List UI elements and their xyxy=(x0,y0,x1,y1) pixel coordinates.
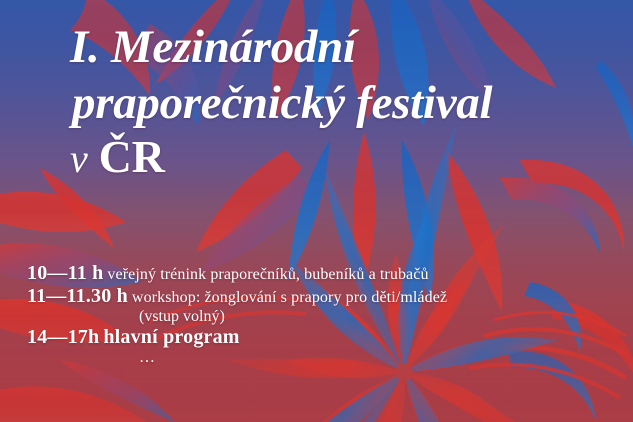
schedule-item-2: 11—11.30 h workshop: žonglování s prapor… xyxy=(27,285,627,308)
schedule-item-3-time: 14—17h xyxy=(27,326,99,348)
schedule-item-2-time: 11—11.30 h xyxy=(27,285,128,307)
poster-content: I. Mezinárodní praporečnický festival v … xyxy=(0,0,633,422)
schedule-item-2-note-text: (vstup volný) xyxy=(139,308,225,325)
schedule-item-2-description: workshop: žonglování s prapory pro děti/… xyxy=(132,289,447,306)
schedule-cropped-line: … xyxy=(27,349,627,367)
title-line-3: v ČR xyxy=(70,134,630,179)
schedule-item-3: 14—17h hlavní program xyxy=(27,326,627,349)
schedule-item-1-time: 10—11 h xyxy=(27,262,103,284)
title-line-3-prefix: v xyxy=(70,136,87,181)
title-line-1: I. Mezinárodní xyxy=(70,24,630,70)
poster-title: I. Mezinárodní praporečnický festival v … xyxy=(70,24,630,179)
schedule-cropped-line-text: … xyxy=(139,349,155,366)
schedule-list: 10—11 h veřejný trénink praporečníků, bu… xyxy=(27,262,627,368)
schedule-item-3-description: hlavní program xyxy=(103,326,239,348)
schedule-item-2-note: (vstup volný) xyxy=(27,308,627,326)
schedule-item-1: 10—11 h veřejný trénink praporečníků, bu… xyxy=(27,262,627,285)
title-line-3-suffix: ČR xyxy=(99,131,165,182)
festival-poster: I. Mezinárodní praporečnický festival v … xyxy=(0,0,633,422)
schedule-item-1-description: veřejný trénink praporečníků, bubeníků a… xyxy=(107,266,428,283)
title-line-2: praporečnický festival xyxy=(72,80,630,126)
